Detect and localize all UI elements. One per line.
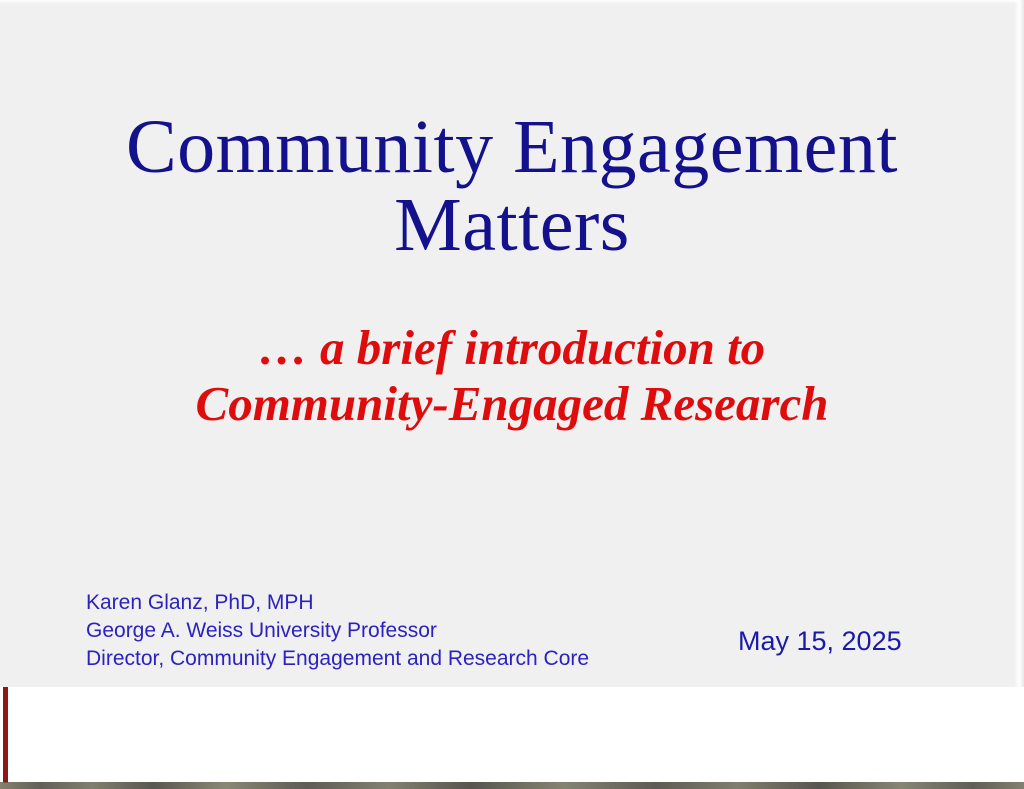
author-title: George A. Weiss University Professor bbox=[86, 617, 589, 645]
slide-subtitle: … a brief introduction to Community-Enga… bbox=[0, 320, 1024, 432]
footer-accent-bar bbox=[3, 687, 8, 783]
slide-subtitle-line-2: Community-Engaged Research bbox=[0, 376, 1024, 432]
presentation-title-slide: Community Engagement Matters … a brief i… bbox=[0, 0, 1024, 789]
footer-bottom-strip bbox=[0, 782, 1024, 789]
footer-logo-bar: Community Engagement and Research Core bbox=[0, 687, 1024, 789]
slide-title-line-2: Matters bbox=[0, 186, 1024, 264]
presentation-date: May 15, 2025 bbox=[738, 626, 902, 657]
author-name: Karen Glanz, PhD, MPH bbox=[86, 589, 589, 617]
slide-subtitle-line-1: … a brief introduction to bbox=[0, 320, 1024, 376]
slide-title: Community Engagement Matters bbox=[0, 108, 1024, 264]
slide-title-line-1: Community Engagement bbox=[0, 108, 1024, 186]
slide-top-edge-highlight bbox=[0, 0, 1024, 4]
author-role: Director, Community Engagement and Resea… bbox=[86, 645, 589, 673]
author-block: Karen Glanz, PhD, MPH George A. Weiss Un… bbox=[86, 589, 589, 673]
